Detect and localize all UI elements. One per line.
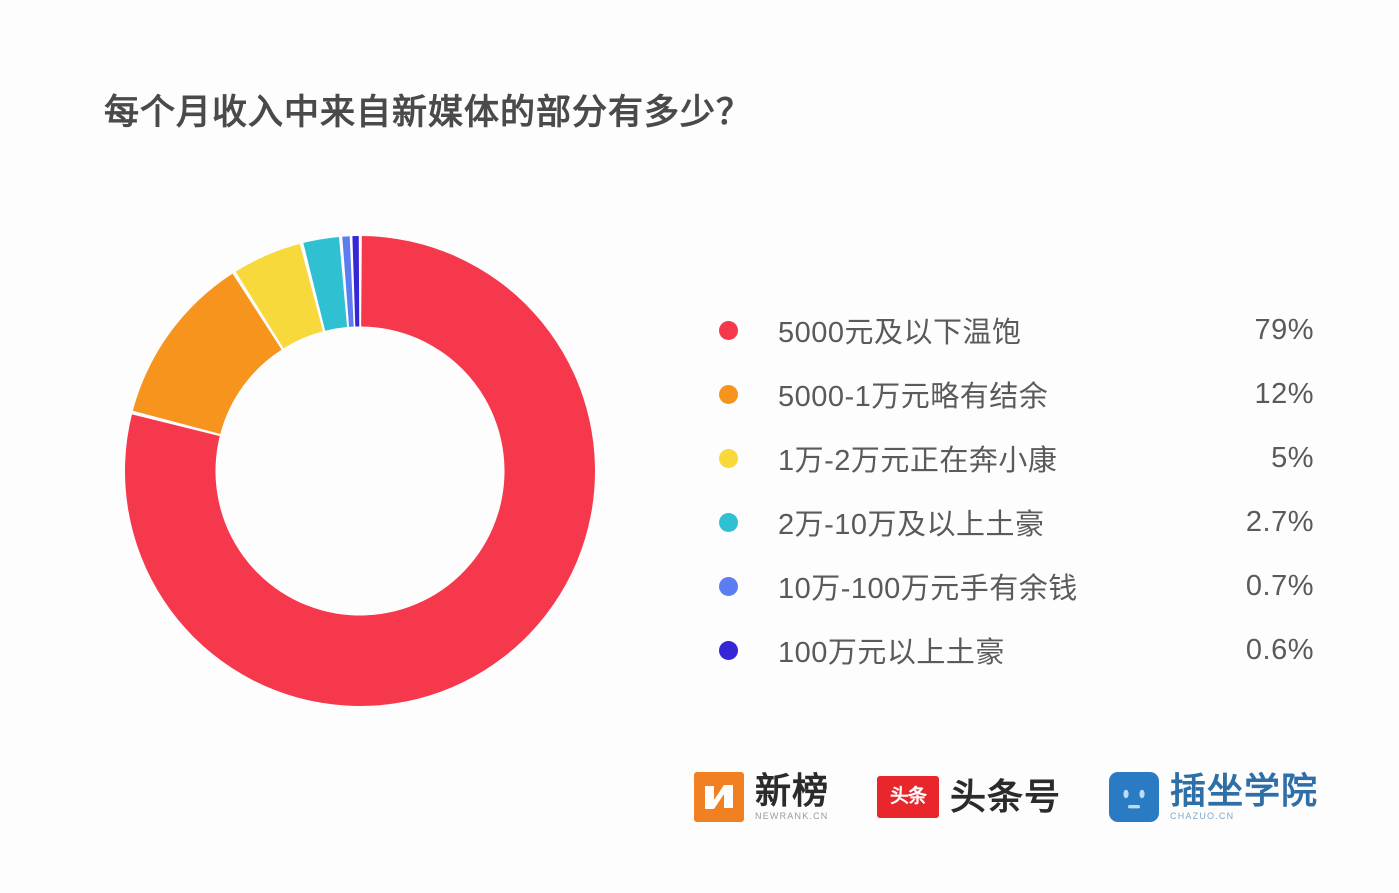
page-title: 每个月收入中来自新媒体的部分有多少？: [104, 84, 752, 135]
newrank-logo-text: 新榜 NEWRANK.CN: [755, 773, 829, 822]
legend-item-label: 2万-10万及以上土豪: [778, 501, 1045, 543]
logo-chazuo: 插坐学院 CHAZUO.CN: [1109, 772, 1318, 822]
legend-item[interactable]: 5000-1万元略有结余 12%: [714, 362, 1314, 426]
legend-item-value: 79%: [1184, 314, 1314, 347]
legend-item-value: 5%: [1184, 442, 1314, 475]
logo-toutiao: 头条 头条号: [877, 776, 1061, 818]
toutiao-logo-text: 头条号: [950, 779, 1061, 816]
legend-color-swatch-icon: [719, 577, 738, 596]
donut-slice[interactable]: [352, 236, 359, 327]
logo-name-cn: 头条号: [950, 779, 1061, 816]
legend-color-swatch-icon: [719, 513, 738, 532]
donut-chart-svg: [122, 233, 598, 709]
logo-name-en: CHAZUO.CN: [1170, 811, 1318, 821]
legend-color-swatch-icon: [719, 321, 738, 340]
legend-color-swatch-icon: [719, 385, 738, 404]
legend-item-value: 0.7%: [1184, 570, 1314, 603]
toutiao-logo-icon: 头条: [877, 776, 939, 818]
legend-color-swatch-icon: [719, 641, 738, 660]
logo-name-cn: 新榜: [755, 773, 829, 810]
logo-name-en: NEWRANK.CN: [755, 811, 829, 821]
logo-newrank: 新榜 NEWRANK.CN: [694, 772, 829, 822]
legend-item-label: 5000-1万元略有结余: [778, 373, 1048, 415]
legend-color-swatch-icon: [719, 449, 738, 468]
legend-item[interactable]: 10万-100万元手有余钱 0.7%: [714, 554, 1314, 618]
chazuo-logo-icon: [1109, 772, 1159, 822]
legend-item-label: 10万-100万元手有余钱: [778, 565, 1078, 607]
legend-item[interactable]: 1万-2万元正在奔小康 5%: [714, 426, 1314, 490]
donut-slice-group: [125, 236, 595, 706]
donut-chart: [122, 233, 598, 709]
legend-item-label: 100万元以上土豪: [778, 629, 1005, 671]
legend-item-value: 0.6%: [1184, 634, 1314, 667]
legend-item-label: 1万-2万元正在奔小康: [778, 437, 1057, 479]
partner-logo-bar: 新榜 NEWRANK.CN 头条 头条号 插坐学院 CHAZUO.CN: [694, 772, 1318, 822]
legend-item[interactable]: 2万-10万及以上土豪 2.7%: [714, 490, 1314, 554]
chazuo-logo-text: 插坐学院 CHAZUO.CN: [1170, 773, 1318, 822]
legend-item-value: 2.7%: [1184, 506, 1314, 539]
legend-item[interactable]: 100万元以上土豪 0.6%: [714, 618, 1314, 682]
legend-item-value: 12%: [1184, 378, 1314, 411]
newrank-logo-icon: [694, 772, 744, 822]
chart-legend: 5000元及以下温饱 79% 5000-1万元略有结余 12% 1万-2万元正在…: [714, 298, 1314, 682]
legend-item-label: 5000元及以下温饱: [778, 309, 1022, 351]
legend-item[interactable]: 5000元及以下温饱 79%: [714, 298, 1314, 362]
logo-name-cn: 插坐学院: [1170, 773, 1318, 810]
